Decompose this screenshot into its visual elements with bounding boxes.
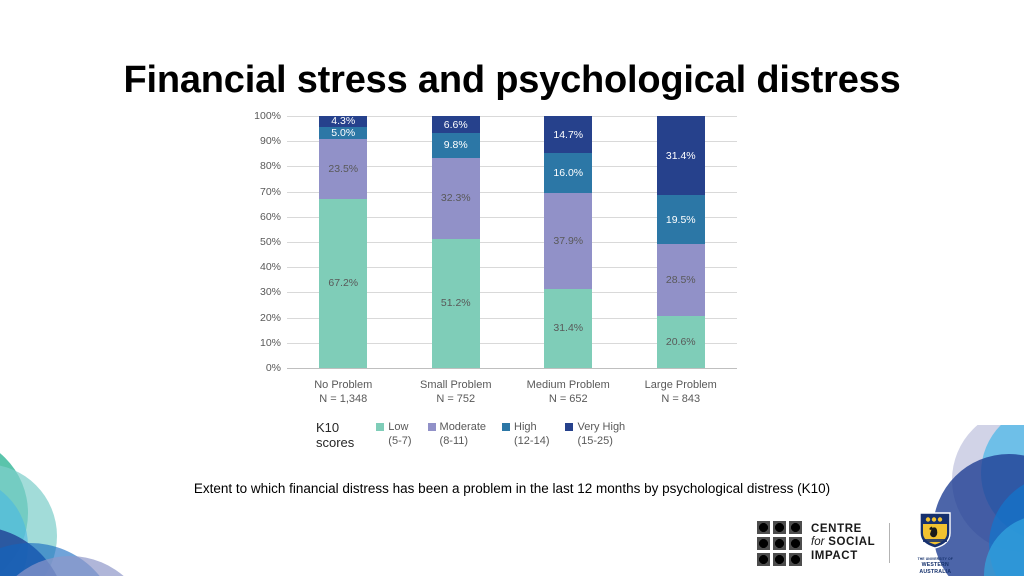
bar-segment-value-label: 37.9% xyxy=(553,235,583,247)
bar-segment-value-label: 23.5% xyxy=(328,163,358,175)
x-axis-category-label: No ProblemN = 1,348 xyxy=(278,378,408,406)
uwa-line-australia: AUSTRALIA xyxy=(904,569,966,575)
bar-segment[interactable]: 4.3% xyxy=(319,116,367,127)
category-name: Medium Problem xyxy=(503,378,633,392)
legend-series-name: Very High xyxy=(577,420,625,434)
bar-stack[interactable]: 67.2%23.5%5.0%4.3% xyxy=(319,116,367,368)
csi-mark-cell xyxy=(789,521,802,534)
chart-legend: K10 scores Low(5-7)Moderate(8-11)High(12… xyxy=(316,420,641,460)
legend-item[interactable]: Very High(15-25) xyxy=(565,420,625,448)
bar-segment-value-label: 4.3% xyxy=(331,115,355,127)
csi-wordmark: CENTRE for SOCIAL IMPACT xyxy=(811,523,875,564)
legend-series-name: Low xyxy=(388,420,408,434)
chart-caption: Extent to which financial distress has b… xyxy=(0,481,1024,496)
bar-segment[interactable]: 37.9% xyxy=(544,193,592,289)
y-axis-tick-label: 80% xyxy=(239,160,281,172)
uwa-logo: THE UNIVERSITY OF WESTERN AUSTRALIA xyxy=(904,511,966,575)
legend-series-range: (12-14) xyxy=(502,434,549,448)
x-axis-category-labels: No ProblemN = 1,348Small ProblemN = 752M… xyxy=(287,378,737,412)
csi-mark-cell xyxy=(757,553,770,566)
bar-segment-value-label: 31.4% xyxy=(666,150,696,162)
y-axis-tick-label: 10% xyxy=(239,337,281,349)
centre-for-social-impact-logo: CENTRE for SOCIAL IMPACT xyxy=(757,521,875,566)
y-axis: 100%90%80%70%60%50%40%30%20%10%0% xyxy=(243,116,285,374)
bar-segment-value-label: 28.5% xyxy=(666,274,696,286)
deco-left-svg xyxy=(0,418,210,576)
legend-series-range: (15-25) xyxy=(565,434,625,448)
legend-item[interactable]: High(12-14) xyxy=(502,420,549,448)
legend-series-range: (5-7) xyxy=(376,434,411,448)
csi-mark-cell xyxy=(757,537,770,550)
x-axis-category-label: Large ProblemN = 843 xyxy=(616,378,746,406)
legend-item[interactable]: Low(5-7) xyxy=(376,420,411,448)
y-axis-tick-label: 90% xyxy=(239,135,281,147)
legend-series-name: High xyxy=(514,420,537,434)
csi-social: SOCIAL xyxy=(828,536,875,548)
y-axis-tick-label: 60% xyxy=(239,211,281,223)
csi-line-social: for SOCIAL xyxy=(811,536,875,550)
csi-mark-cell xyxy=(789,537,802,550)
bar-segment[interactable]: 31.4% xyxy=(657,116,705,195)
bar-segment[interactable]: 67.2% xyxy=(319,199,367,368)
bar-segment[interactable]: 19.5% xyxy=(657,195,705,244)
uwa-crest-icon xyxy=(918,511,952,549)
legend-series-range: (8-11) xyxy=(428,434,486,448)
category-sample-size: N = 752 xyxy=(391,392,521,406)
bar-segment[interactable]: 23.5% xyxy=(319,139,367,198)
bar-segment-value-label: 14.7% xyxy=(553,129,583,141)
legend-swatch-icon xyxy=(502,423,510,431)
bar-segment-value-label: 32.3% xyxy=(441,192,471,204)
bar-segment-value-label: 6.6% xyxy=(444,119,468,131)
y-axis-tick-label: 50% xyxy=(239,236,281,248)
legend-items: Low(5-7)Moderate(8-11)High(12-14)Very Hi… xyxy=(376,420,641,448)
category-name: No Problem xyxy=(278,378,408,392)
y-axis-tick-label: 40% xyxy=(239,261,281,273)
stacked-bar-chart: 100%90%80%70%60%50%40%30%20%10%0% 67.2%2… xyxy=(243,116,743,376)
bar-segment[interactable]: 9.8% xyxy=(432,133,480,158)
legend-title: K10 scores xyxy=(316,420,354,450)
bar-segment-value-label: 51.2% xyxy=(441,297,471,309)
bar-segment[interactable]: 16.0% xyxy=(544,153,592,193)
bar-segment-value-label: 19.5% xyxy=(666,214,696,226)
bar-segment[interactable]: 32.3% xyxy=(432,158,480,239)
bar-segment-value-label: 31.4% xyxy=(553,322,583,334)
logo-divider xyxy=(889,523,890,563)
bar-stack[interactable]: 31.4%37.9%16.0%14.7% xyxy=(544,116,592,368)
bar-segment[interactable]: 6.6% xyxy=(432,116,480,133)
bar-segment[interactable]: 28.5% xyxy=(657,244,705,316)
legend-item[interactable]: Moderate(8-11) xyxy=(428,420,486,448)
bar-stack[interactable]: 20.6%28.5%19.5%31.4% xyxy=(657,116,705,368)
csi-for: for xyxy=(811,536,824,548)
bar-segment[interactable]: 20.6% xyxy=(657,316,705,368)
bar-segment-value-label: 16.0% xyxy=(553,167,583,179)
legend-swatch-icon xyxy=(565,423,573,431)
csi-mark-cell xyxy=(757,521,770,534)
uwa-wordmark: THE UNIVERSITY OF WESTERN AUSTRALIA xyxy=(904,556,966,575)
csi-line-impact: IMPACT xyxy=(811,550,875,564)
x-axis-line xyxy=(287,368,737,369)
logo-bar: CENTRE for SOCIAL IMPACT THE UNIVERSITY … xyxy=(757,514,966,572)
csi-mark-cell xyxy=(773,553,786,566)
y-axis-tick-label: 30% xyxy=(239,286,281,298)
category-sample-size: N = 843 xyxy=(616,392,746,406)
bar-segment-value-label: 5.0% xyxy=(331,127,355,139)
csi-line-centre: CENTRE xyxy=(811,523,875,537)
legend-swatch-icon xyxy=(376,423,384,431)
bar-segment-value-label: 67.2% xyxy=(328,277,358,289)
y-axis-tick-label: 100% xyxy=(239,110,281,122)
bar-stack[interactable]: 51.2%32.3%9.8%6.6% xyxy=(432,116,480,368)
category-sample-size: N = 652 xyxy=(503,392,633,406)
bar-segment[interactable]: 51.2% xyxy=(432,239,480,368)
csi-mark-cell xyxy=(773,537,786,550)
plot-area: 67.2%23.5%5.0%4.3%51.2%32.3%9.8%6.6%31.4… xyxy=(287,116,737,368)
y-axis-tick-label: 20% xyxy=(239,312,281,324)
category-name: Small Problem xyxy=(391,378,521,392)
legend-swatch-icon xyxy=(428,423,436,431)
csi-mark-cell xyxy=(789,553,802,566)
category-name: Large Problem xyxy=(616,378,746,392)
slide-canvas: Financial stress and psychological distr… xyxy=(0,0,1024,576)
y-axis-tick-label: 70% xyxy=(239,186,281,198)
decorative-circles-left xyxy=(0,418,210,576)
legend-series-name: Moderate xyxy=(440,420,486,434)
bar-segment[interactable]: 5.0% xyxy=(319,127,367,140)
csi-mark-cell xyxy=(773,521,786,534)
bar-segment[interactable]: 14.7% xyxy=(544,116,592,153)
x-axis-category-label: Medium ProblemN = 652 xyxy=(503,378,633,406)
bar-segment[interactable]: 31.4% xyxy=(544,289,592,368)
y-axis-tick-label: 0% xyxy=(239,362,281,374)
category-sample-size: N = 1,348 xyxy=(278,392,408,406)
csi-mark-icon xyxy=(757,521,802,566)
bar-segment-value-label: 9.8% xyxy=(444,139,468,151)
page-title: Financial stress and psychological distr… xyxy=(0,59,1024,102)
bar-segment-value-label: 20.6% xyxy=(666,336,696,348)
x-axis-category-label: Small ProblemN = 752 xyxy=(391,378,521,406)
